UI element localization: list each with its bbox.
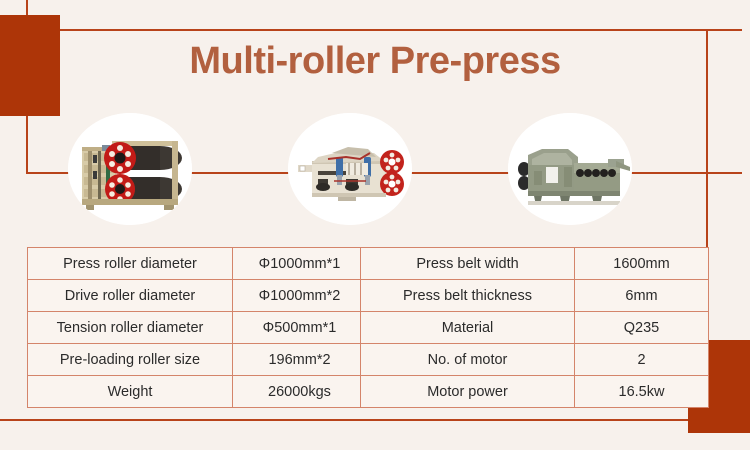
spec-key: Drive roller diameter xyxy=(28,280,233,312)
spec-key: No. of motor xyxy=(361,344,575,376)
table-row: Drive roller diameter Φ1000mm*2 xyxy=(28,280,367,312)
roller-specifications-table: Press roller diameter Φ1000mm*1 Drive ro… xyxy=(27,247,367,408)
spec-value: 26000kgs xyxy=(233,376,367,408)
spec-value: Q235 xyxy=(575,312,709,344)
table-row: Pre-loading roller size 196mm*2 xyxy=(28,344,367,376)
spec-value: Φ1000mm*1 xyxy=(233,248,367,280)
multi-roller-press-machine-photo xyxy=(68,113,192,225)
table-row: Press belt width 1600mm xyxy=(361,248,709,280)
table-row: Press belt thickness 6mm xyxy=(361,280,709,312)
spec-key: Motor power xyxy=(361,376,575,408)
spec-value: 6mm xyxy=(575,280,709,312)
table-row: Material Q235 xyxy=(361,312,709,344)
spec-key: Press roller diameter xyxy=(28,248,233,280)
pre-press-assembly-photo xyxy=(288,113,412,225)
spec-value: Φ500mm*1 xyxy=(233,312,367,344)
spec-key: Weight xyxy=(28,376,233,408)
spec-value: 2 xyxy=(575,344,709,376)
spec-key: Press belt width xyxy=(361,248,575,280)
frame-line-bottom xyxy=(0,419,706,421)
spec-key: Pre-loading roller size xyxy=(28,344,233,376)
spec-key: Material xyxy=(361,312,575,344)
spec-value: Φ1000mm*2 xyxy=(233,280,367,312)
spec-value: 16.5kw xyxy=(575,376,709,408)
frame-line-top xyxy=(40,29,742,31)
spec-value: 1600mm xyxy=(575,248,709,280)
table-row: Tension roller diameter Φ500mm*1 xyxy=(28,312,367,344)
spec-key: Tension roller diameter xyxy=(28,312,233,344)
press-frame-machine-photo xyxy=(508,113,632,225)
table-row: No. of motor 2 xyxy=(361,344,709,376)
spec-key: Press belt thickness xyxy=(361,280,575,312)
table-row: Weight 26000kgs xyxy=(28,376,367,408)
belt-and-motor-specifications-table: Press belt width 1600mm Press belt thick… xyxy=(360,247,709,408)
page-title: Multi-roller Pre-press xyxy=(0,40,750,83)
spec-value: 196mm*2 xyxy=(233,344,367,376)
product-spec-banner: Multi-roller Pre-press xyxy=(0,0,750,450)
table-row: Motor power 16.5kw xyxy=(361,376,709,408)
table-row: Press roller diameter Φ1000mm*1 xyxy=(28,248,367,280)
